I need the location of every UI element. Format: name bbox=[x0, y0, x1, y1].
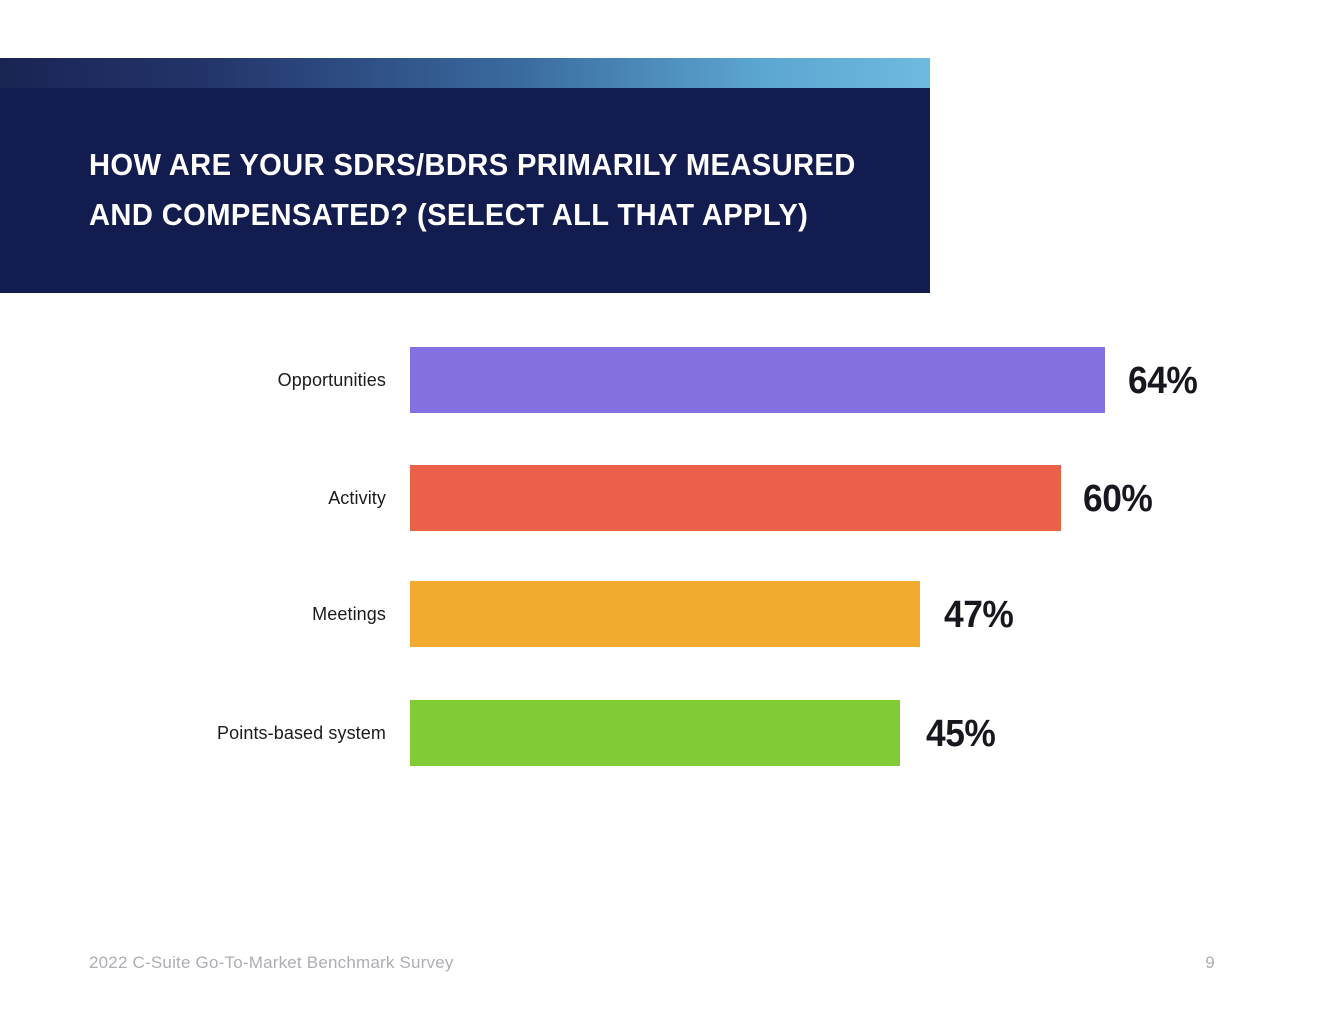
page-title-line-1: HOW ARE YOUR SDRS/BDRS PRIMARILY MEASURE… bbox=[89, 140, 832, 190]
bar-category-label: Points-based system bbox=[120, 700, 386, 766]
page-title: HOW ARE YOUR SDRS/BDRS PRIMARILY MEASURE… bbox=[89, 140, 832, 240]
bar-chart: Opportunities 64% Activity 60% Meetings … bbox=[0, 330, 1320, 800]
bar-category-label: Activity bbox=[120, 465, 386, 531]
page-title-line-2: AND COMPENSATED? (SELECT ALL THAT APPLY) bbox=[89, 190, 832, 240]
bar-track: 45% bbox=[410, 700, 1150, 766]
bar-value-label: 45% bbox=[926, 700, 995, 766]
bar-row: Meetings 47% bbox=[0, 581, 1320, 647]
bar-category-label: Opportunities bbox=[120, 347, 386, 413]
bar-value-label: 64% bbox=[1128, 347, 1197, 413]
bar-value-label: 60% bbox=[1083, 465, 1152, 531]
bar-fill-activity bbox=[410, 465, 1061, 531]
bar-fill-points-based-system bbox=[410, 700, 900, 766]
bar-fill-meetings bbox=[410, 581, 920, 647]
gradient-accent-strip bbox=[0, 58, 930, 88]
bar-track: 47% bbox=[410, 581, 1150, 647]
title-block: HOW ARE YOUR SDRS/BDRS PRIMARILY MEASURE… bbox=[0, 58, 930, 293]
bar-track: 64% bbox=[410, 347, 1150, 413]
page-number: 9 bbox=[1180, 953, 1240, 973]
bar-row: Points-based system 45% bbox=[0, 700, 1320, 766]
bar-row: Activity 60% bbox=[0, 465, 1320, 531]
bar-category-label: Meetings bbox=[120, 581, 386, 647]
bar-fill-opportunities bbox=[410, 347, 1105, 413]
footer-survey-title: 2022 C-Suite Go-To-Market Benchmark Surv… bbox=[89, 953, 454, 973]
bar-value-label: 47% bbox=[944, 581, 1013, 647]
slide-canvas: { "slide": { "background_color": "#FFFFF… bbox=[0, 0, 1320, 1020]
bar-track: 60% bbox=[410, 465, 1150, 531]
bar-row: Opportunities 64% bbox=[0, 347, 1320, 413]
